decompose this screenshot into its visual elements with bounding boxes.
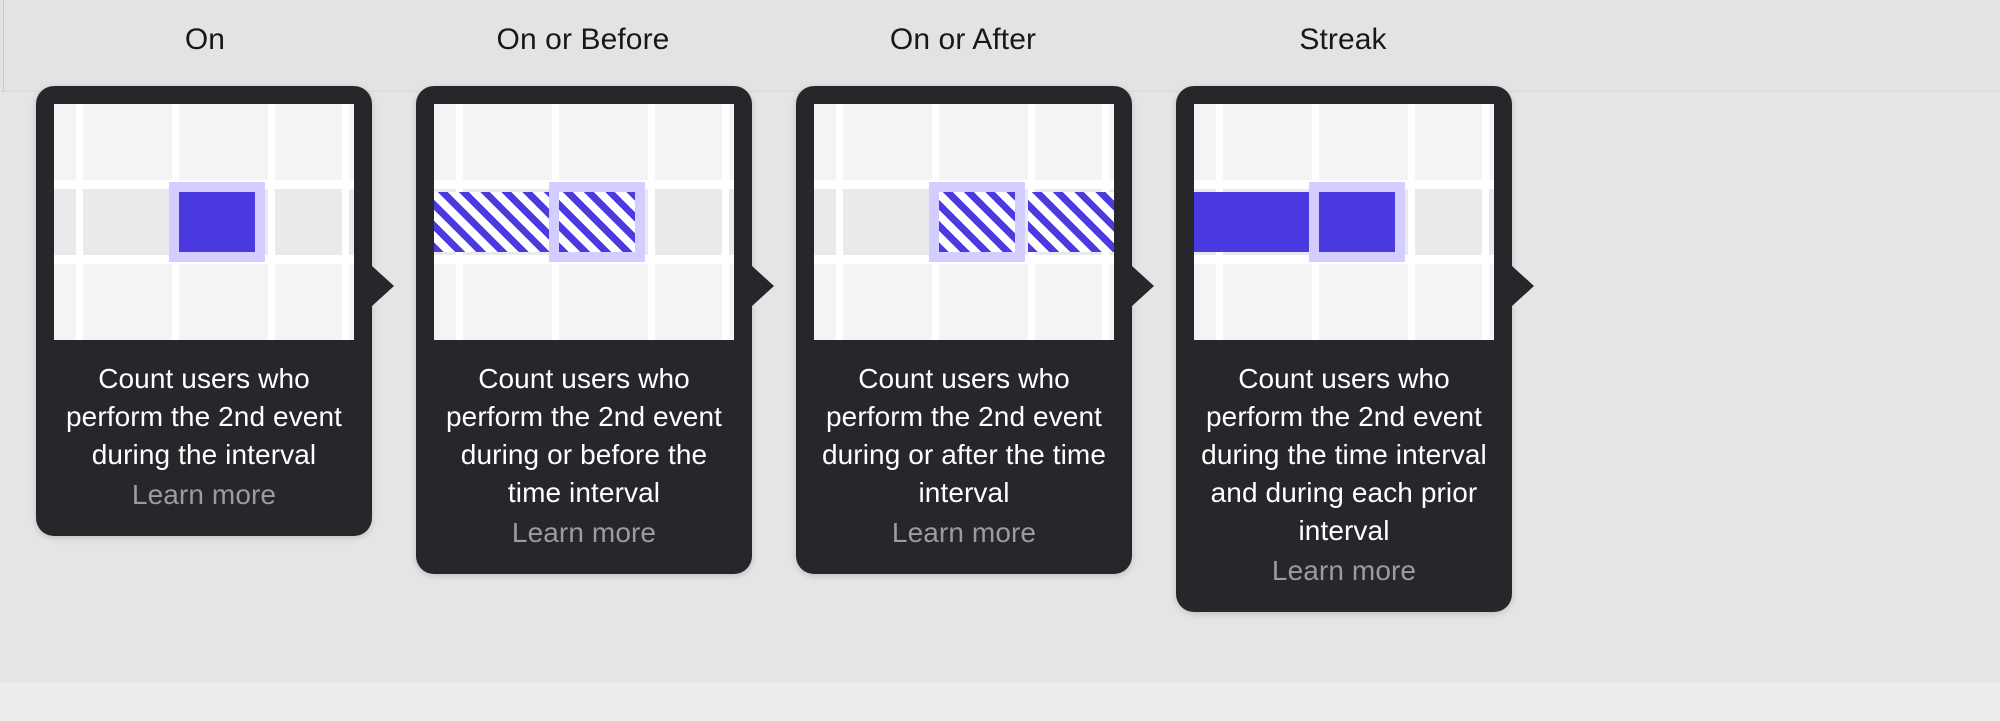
grid-col-line-2 <box>648 104 655 340</box>
tooltip-pointer <box>1132 266 1154 306</box>
event-mark-solid <box>179 192 255 252</box>
card-description: Count users who perform the 2nd event du… <box>1194 360 1494 550</box>
bottom-band <box>0 683 2000 721</box>
grid-row-2 <box>1194 264 1494 340</box>
grid-col-line-0 <box>76 104 83 340</box>
grid-row-0 <box>1194 104 1494 180</box>
left-column-rule <box>3 0 4 92</box>
event-mark-hatch-prior <box>434 192 549 252</box>
grid-diagram-on-or-after <box>814 104 1114 340</box>
learn-more-link[interactable]: Learn more <box>434 514 734 552</box>
grid-col-line-3 <box>1482 104 1489 340</box>
grid-col-line-2 <box>1408 104 1415 340</box>
event-mark-solid-selected <box>1319 192 1395 252</box>
card-description: Count users who perform the 2nd event du… <box>54 360 354 474</box>
tooltip-card-on[interactable]: Count users who perform the 2nd event du… <box>36 86 372 536</box>
grid-row-0 <box>814 104 1114 180</box>
grid-row-2 <box>434 264 734 340</box>
grid-col-line-3 <box>342 104 349 340</box>
grid-diagram-streak <box>1194 104 1494 340</box>
column-title-on-or-after: On or After <box>798 22 1128 58</box>
event-mark-hatch-after <box>1028 192 1114 252</box>
grid-row-0 <box>54 104 354 180</box>
card-description: Count users who perform the 2nd event du… <box>434 360 734 512</box>
tooltip-comparison-stage: On On or Before On or After Streak Count… <box>0 0 2000 721</box>
event-mark-hatch-selected <box>559 192 635 252</box>
grid-row-2 <box>54 264 354 340</box>
event-mark-solid-prior <box>1194 192 1309 252</box>
column-title-on-or-before: On or Before <box>418 22 748 58</box>
event-mark-hatch-selected <box>939 192 1015 252</box>
grid-col-line-0 <box>836 104 843 340</box>
tooltip-pointer <box>1512 266 1534 306</box>
tooltip-pointer <box>752 266 774 306</box>
grid-row-2 <box>814 264 1114 340</box>
tooltip-card-on-or-after[interactable]: Count users who perform the 2nd event du… <box>796 86 1132 574</box>
grid-col-line-2 <box>268 104 275 340</box>
grid-diagram-on-or-before <box>434 104 734 340</box>
learn-more-link[interactable]: Learn more <box>54 476 354 514</box>
tooltip-pointer <box>372 266 394 306</box>
tooltip-card-on-or-before[interactable]: Count users who perform the 2nd event du… <box>416 86 752 574</box>
grid-col-line-3 <box>722 104 729 340</box>
card-description: Count users who perform the 2nd event du… <box>814 360 1114 512</box>
grid-row-0 <box>434 104 734 180</box>
learn-more-link[interactable]: Learn more <box>1194 552 1494 590</box>
learn-more-link[interactable]: Learn more <box>814 514 1114 552</box>
column-title-streak: Streak <box>1178 22 1508 58</box>
column-title-on: On <box>40 22 370 58</box>
grid-diagram-on <box>54 104 354 340</box>
tooltip-card-streak[interactable]: Count users who perform the 2nd event du… <box>1176 86 1512 612</box>
